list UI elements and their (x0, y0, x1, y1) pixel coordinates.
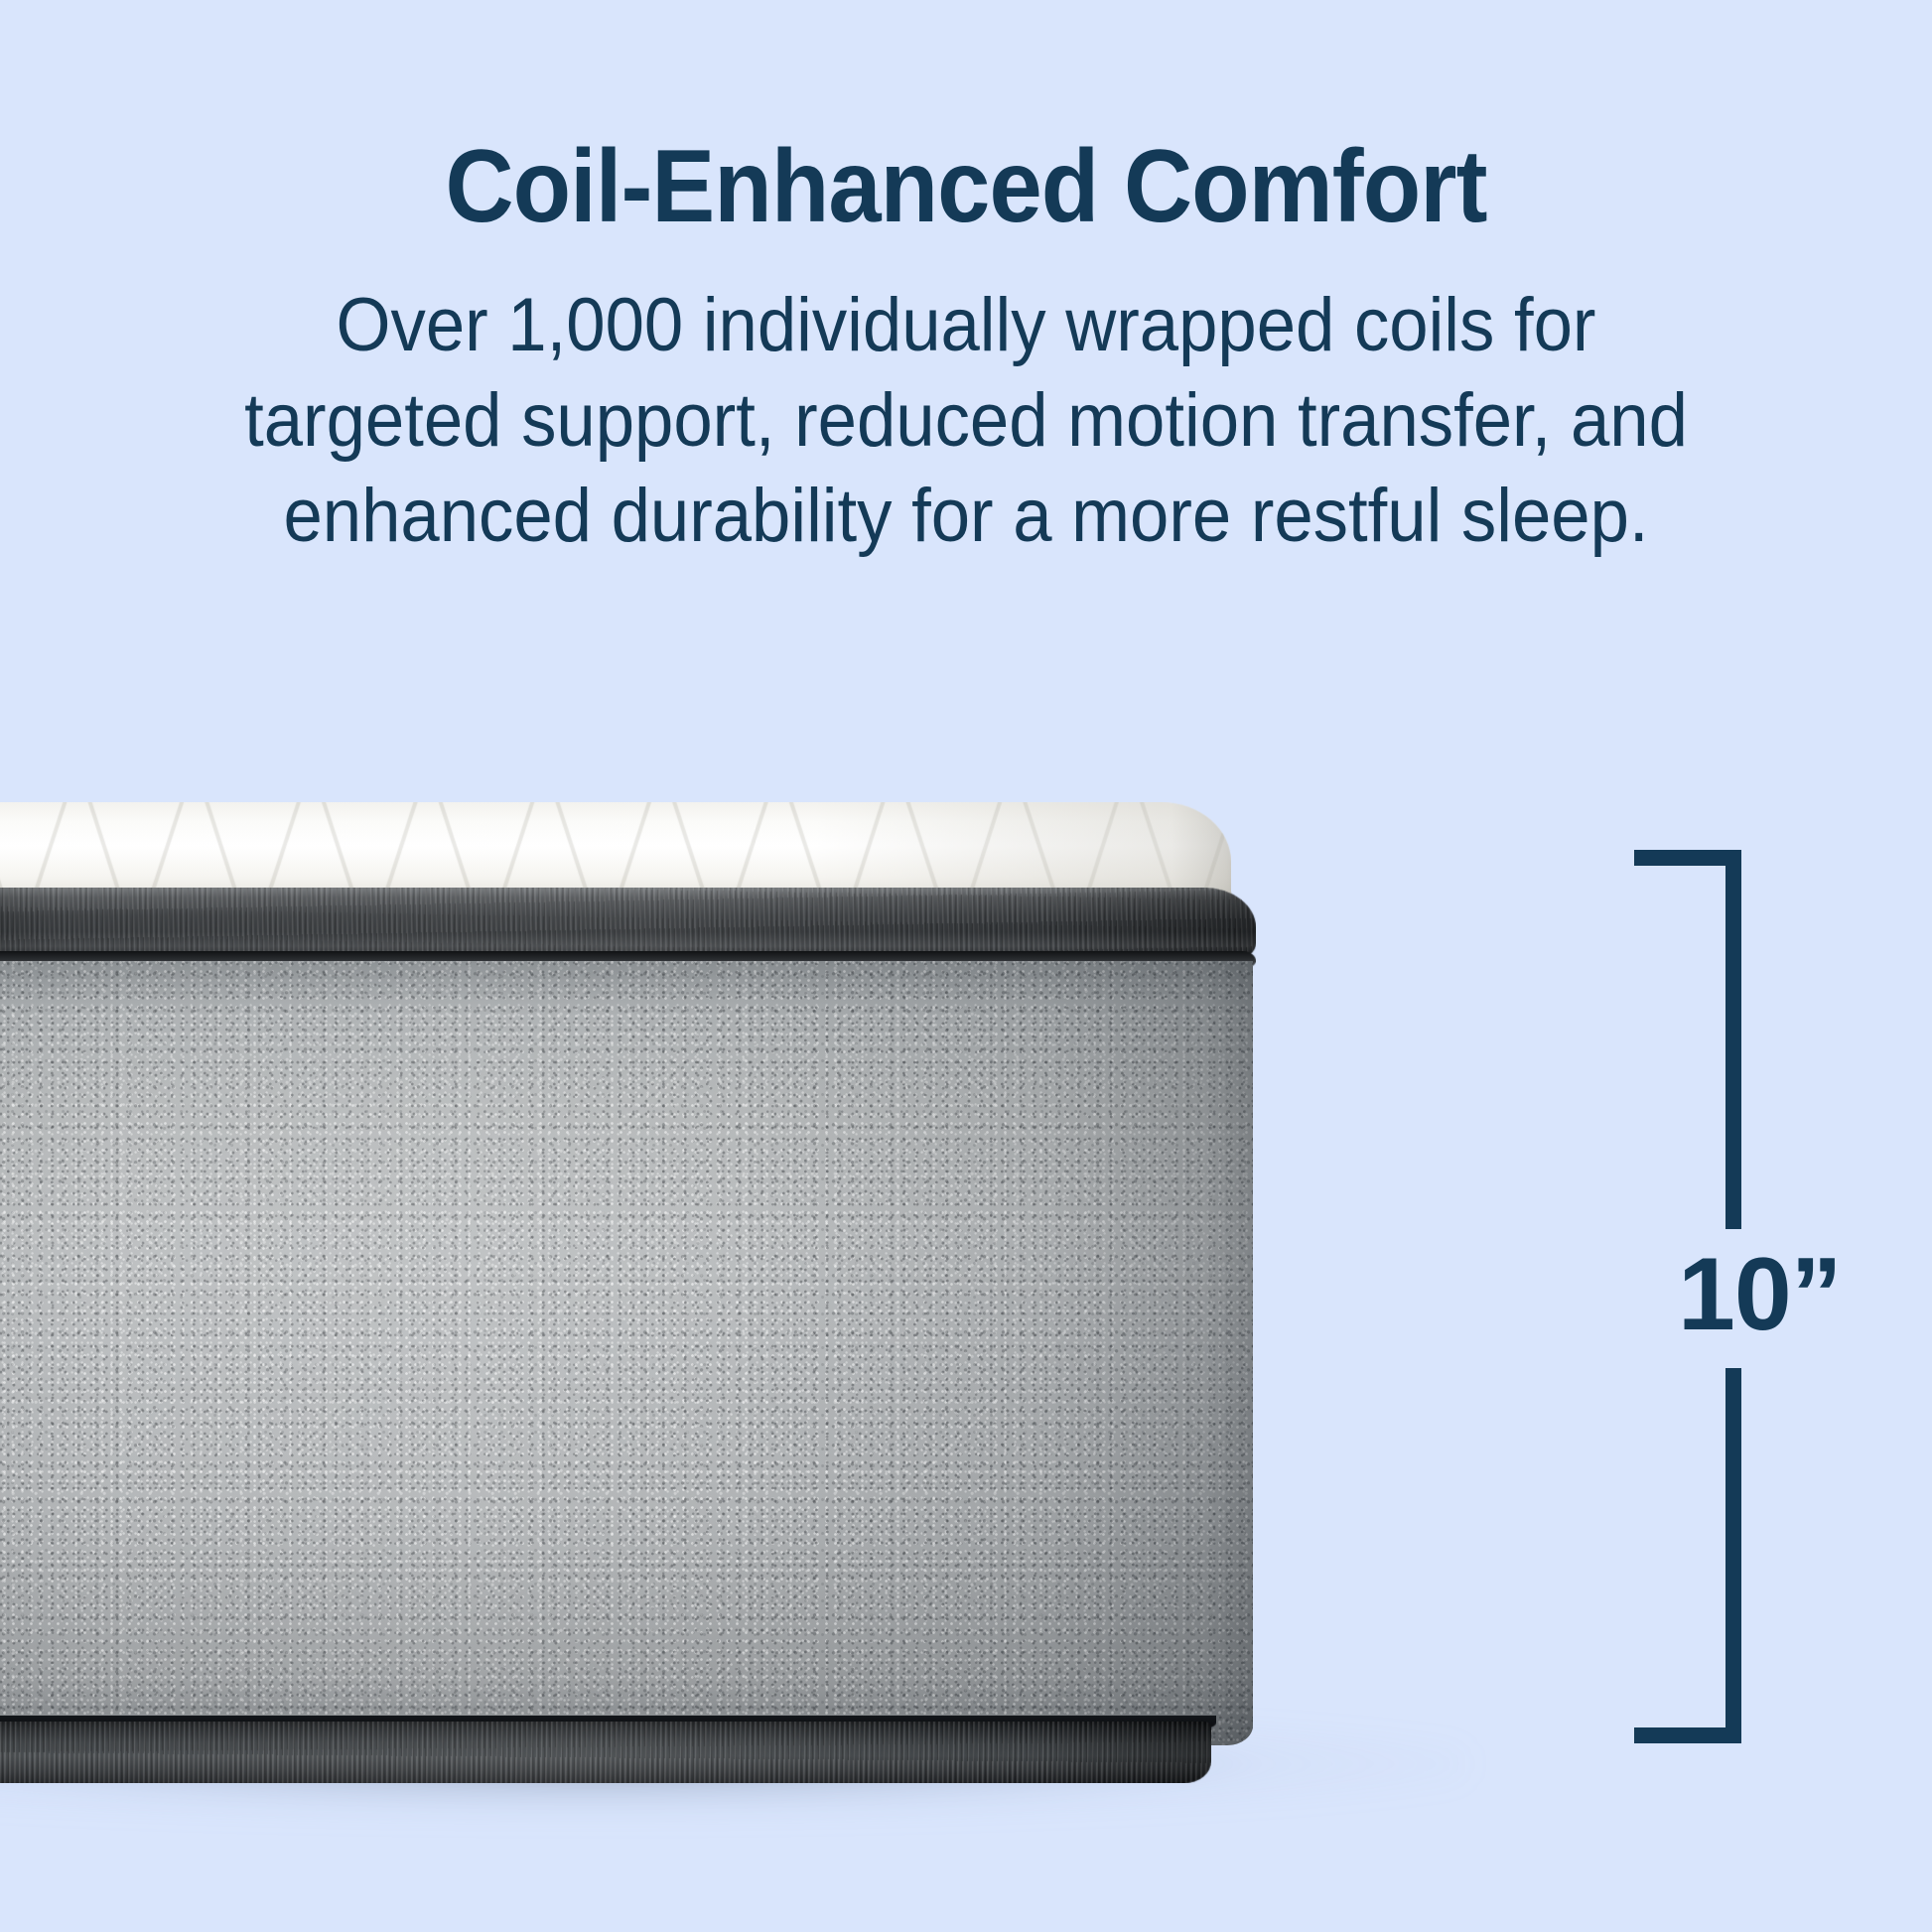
fabric-vertical-shading (0, 961, 1253, 1745)
side-fabric-panel (0, 961, 1253, 1745)
mattress-product-image (0, 800, 1519, 1803)
bracket-arm-bottom (1634, 1727, 1741, 1743)
dimension-label: 10” (1678, 1243, 1842, 1346)
description-line-1: Over 1,000 individually wrapped coils fo… (68, 278, 1864, 373)
page-title: Coil-Enhanced Comfort (77, 131, 1855, 242)
description-line-3: enhanced durability for a more restful s… (68, 469, 1864, 564)
description-paragraph: Over 1,000 individually wrapped coils fo… (68, 242, 1864, 564)
description-line-2: targeted support, reduced motion transfe… (68, 373, 1864, 469)
text-block: Coil-Enhanced Comfort Over 1,000 individ… (0, 131, 1932, 564)
upper-piping-trim (0, 888, 1256, 959)
marketing-graphic: Coil-Enhanced Comfort Over 1,000 individ… (0, 0, 1932, 1932)
lower-piping-trim (0, 1722, 1211, 1783)
